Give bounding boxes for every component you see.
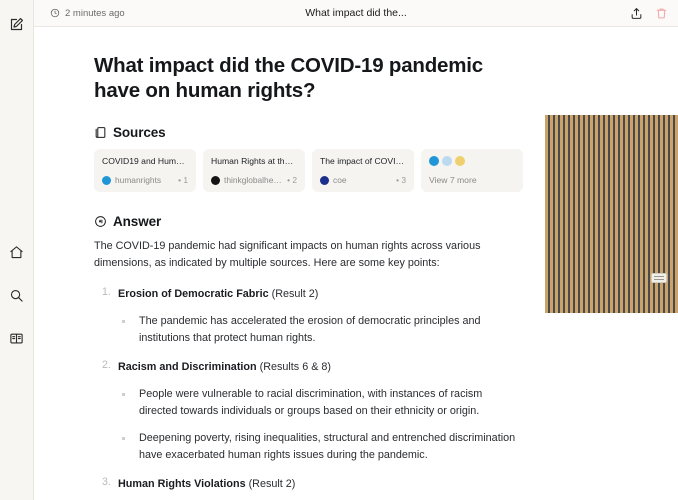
page-title: What impact did the COVID-19 pandemic ha…	[94, 53, 514, 103]
source-index: • 2	[287, 175, 297, 185]
thumbnail-chip-icon	[632, 273, 648, 283]
bullet-item: People were vulnerable to racial discrim…	[118, 386, 516, 419]
answer-heading: Answer	[94, 214, 526, 229]
source-card[interactable]: The impact of COVID... coe • 3	[312, 149, 414, 192]
sidebar-item-home[interactable]	[5, 240, 29, 264]
timestamp-label: 2 minutes ago	[65, 8, 125, 19]
top-bar: 2 minutes ago What impact did the...	[34, 0, 678, 27]
rail-bottom-group	[5, 240, 29, 500]
source-meta: humanrights • 1	[102, 175, 188, 185]
source-domain: humanrights	[115, 175, 174, 185]
source-card[interactable]: COVID19 and Human ... humanrights • 1	[94, 149, 196, 192]
source-domain: coe	[333, 175, 392, 185]
favicon-icon	[102, 176, 111, 185]
favicon-icon	[429, 156, 439, 166]
more-videos-chips	[632, 273, 678, 283]
more-favicons	[429, 156, 515, 166]
answer-steps-list: Erosion of Democratic Fabric (Result 2) …	[94, 286, 526, 500]
view-more-videos-tile[interactable]: View 7 more	[626, 268, 678, 313]
main-panel: 2 minutes ago What impact did the...	[34, 0, 678, 500]
answer-heading-label: Answer	[113, 214, 161, 229]
source-title: Human Rights at the ...	[211, 156, 297, 167]
source-index: • 1	[178, 175, 188, 185]
step-heading: Human Rights Violations (Result 2)	[118, 476, 526, 492]
source-meta: thinkglobalheal... • 2	[211, 175, 297, 185]
timestamp-group: 2 minutes ago	[50, 8, 125, 19]
step-bullets: People were vulnerable to racial discrim…	[118, 386, 526, 463]
sources-heading: Sources	[94, 125, 526, 140]
top-bar-actions	[629, 6, 668, 20]
view-more-sources-card[interactable]: View 7 more	[421, 149, 523, 192]
step-result-ref: (Results 6 & 8)	[257, 361, 331, 373]
favicon-icon	[211, 176, 220, 185]
rail-top-group	[5, 0, 29, 36]
favicon-icon	[320, 176, 329, 185]
media-grid: View 7 more Video	[545, 115, 678, 313]
sources-book-icon	[94, 126, 107, 139]
source-meta: coe • 3	[320, 175, 406, 185]
step-title: Racism and Discrimination	[118, 361, 257, 373]
answer-intro: The COVID-19 pandemic had significant im…	[94, 238, 514, 272]
source-domain: thinkglobalheal...	[224, 175, 283, 185]
step-heading: Erosion of Democratic Fabric (Result 2)	[118, 286, 526, 302]
thread-title: What impact did the...	[34, 7, 678, 19]
clock-icon	[50, 8, 60, 18]
step-title: Human Rights Violations	[118, 478, 246, 490]
step-title: Erosion of Democratic Fabric	[118, 288, 269, 300]
step-result-ref: (Result 2)	[246, 478, 296, 490]
bullet-item: Deepening poverty, rising inequalities, …	[118, 430, 516, 463]
app-root: 2 minutes ago What impact did the...	[0, 0, 678, 500]
content-scroll[interactable]: What impact did the COVID-19 pandemic ha…	[34, 27, 678, 500]
trash-delete-icon[interactable]	[654, 6, 668, 20]
source-card[interactable]: Human Rights at the ... thinkglobalheal.…	[203, 149, 305, 192]
favicon-icon	[455, 156, 465, 166]
sources-row: COVID19 and Human ... humanrights • 1 Hu…	[94, 149, 531, 192]
view-more-sources-label: View 7 more	[429, 175, 515, 185]
compose-edit-icon[interactable]	[5, 12, 29, 36]
answer-step: Human Rights Violations (Result 2) Human…	[94, 476, 526, 500]
favicon-icon	[442, 156, 452, 166]
answer-sparkle-icon	[94, 215, 107, 228]
answer-step: Erosion of Democratic Fabric (Result 2) …	[94, 286, 526, 346]
sidebar-item-library[interactable]	[5, 326, 29, 350]
source-title: The impact of COVID...	[320, 156, 406, 167]
step-result-ref: (Result 2)	[269, 288, 319, 300]
sources-heading-label: Sources	[113, 125, 166, 140]
source-index: • 3	[396, 175, 406, 185]
sidebar-item-search[interactable]	[5, 283, 29, 307]
source-title: COVID19 and Human ...	[102, 156, 188, 167]
step-bullets: The pandemic has accelerated the erosion…	[118, 313, 526, 346]
answer-article: What impact did the COVID-19 pandemic ha…	[94, 53, 526, 500]
bullet-item: The pandemic has accelerated the erosion…	[118, 313, 516, 346]
thumbnail-chip-icon	[651, 273, 667, 283]
answer-step: Racism and Discrimination (Results 6 & 8…	[94, 359, 526, 463]
step-heading: Racism and Discrimination (Results 6 & 8…	[118, 359, 526, 375]
share-upload-icon[interactable]	[629, 6, 643, 20]
left-rail	[0, 0, 34, 500]
